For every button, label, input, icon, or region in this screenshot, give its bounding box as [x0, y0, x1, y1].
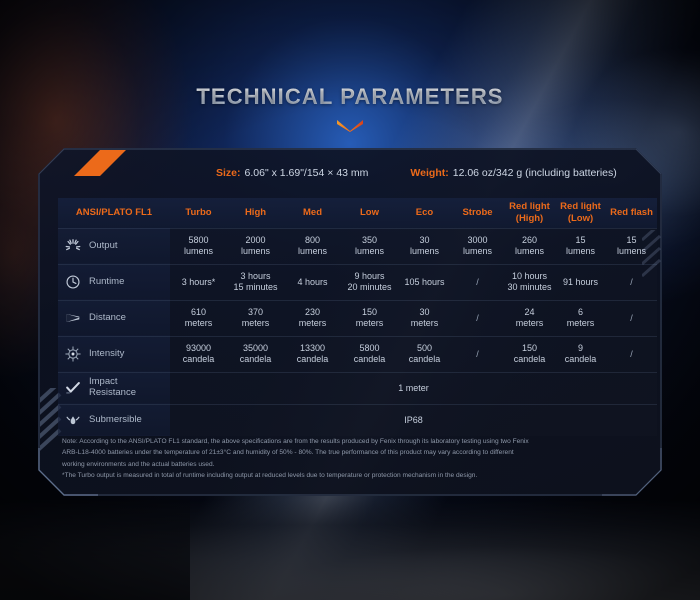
table-cell: 500candela — [398, 336, 451, 372]
cell-unit: candela — [341, 354, 398, 365]
row-header-output: Output — [58, 228, 170, 264]
meta-weight-label: Weight: — [410, 167, 448, 179]
clock-icon — [64, 273, 82, 291]
row-header-distance: Distance — [58, 300, 170, 336]
column-header-eco: Eco — [398, 198, 451, 228]
cell-value: 6 — [555, 307, 606, 318]
row-label-submersible: Submersible — [89, 415, 142, 426]
cell-value: 4 hours — [284, 277, 341, 288]
cell-unit: meters — [504, 318, 555, 329]
cell-unit: meters — [341, 318, 398, 329]
table-cell: / — [606, 336, 657, 372]
meta-weight: Weight: 12.06 oz/342 g (including batter… — [410, 167, 616, 179]
cell-unit: lumens — [284, 246, 341, 257]
table-cell: 35000candela — [227, 336, 284, 372]
column-header-red-light-high: Red light (High) — [504, 198, 555, 228]
row-label-runtime: Runtime — [89, 277, 124, 288]
column-header-red-flash: Red flash — [606, 198, 657, 228]
cell-value: 15 — [555, 235, 606, 246]
table-cell: 260lumens — [504, 228, 555, 264]
cell-unit: 30 minutes — [504, 282, 555, 293]
table-cell: 370meters — [227, 300, 284, 336]
column-header-med: Med — [284, 198, 341, 228]
cell-value: 93000 — [170, 343, 227, 354]
table-cell: 3 hours15 minutes — [227, 264, 284, 300]
cell-value: 15 — [606, 235, 657, 246]
table-cell-merged-impact: 1 meter — [170, 372, 657, 404]
page-title: TECHNICAL PARAMETERS — [0, 84, 700, 110]
table-row: Intensity 93000candela 35000candela 1330… — [58, 336, 657, 372]
table-cell: 2000lumens — [227, 228, 284, 264]
cell-unit: lumens — [170, 246, 227, 257]
cell-unit: lumens — [555, 246, 606, 257]
cell-unit: lumens — [227, 246, 284, 257]
meta-weight-value: 12.06 oz/342 g (including batteries) — [453, 167, 617, 179]
sunburst-icon — [64, 237, 82, 255]
table-cell: 9candela — [555, 336, 606, 372]
table-cell: / — [606, 300, 657, 336]
meta-size: Size: 6.06" x 1.69"/154 × 43 mm — [216, 167, 368, 179]
table-cell: 6meters — [555, 300, 606, 336]
table-row: Runtime 3 hours* 3 hours15 minutes 4 hou… — [58, 264, 657, 300]
column-header-strobe: Strobe — [451, 198, 504, 228]
footnote-line-1: Note: According to the ANSI/PLATO FL1 st… — [62, 436, 642, 447]
row-label-intensity: Intensity — [89, 349, 124, 360]
row-header-runtime: Runtime — [58, 264, 170, 300]
cell-value: 230 — [284, 307, 341, 318]
cell-unit: meters — [170, 318, 227, 329]
table-cell: 5800lumens — [170, 228, 227, 264]
table-cell: 610meters — [170, 300, 227, 336]
table-row: ImpactResistance 1 meter — [58, 372, 657, 404]
table-cell: 93000candela — [170, 336, 227, 372]
row-label-line2: Resistance — [89, 387, 136, 398]
cell-value: 610 — [170, 307, 227, 318]
table-cell: / — [451, 300, 504, 336]
cell-unit: candela — [398, 354, 451, 365]
chevron-down-icon — [336, 119, 364, 132]
cell-value: / — [451, 277, 504, 288]
table-cell: 800lumens — [284, 228, 341, 264]
table-cell: 150candela — [504, 336, 555, 372]
column-header-low: Low — [341, 198, 398, 228]
table-cell: 5800candela — [341, 336, 398, 372]
table-cell: 30lumens — [398, 228, 451, 264]
cell-unit: candela — [170, 354, 227, 365]
cell-value: / — [606, 313, 657, 324]
cell-value: 3 hours — [227, 271, 284, 282]
cell-value: 3 hours* — [170, 277, 227, 288]
beam-distance-icon — [64, 309, 82, 327]
table-row: Submersible IP68 — [58, 404, 657, 436]
footnote-line-3: working environments and the actual batt… — [62, 459, 642, 470]
meta-size-value: 6.06" x 1.69"/154 × 43 mm — [245, 167, 369, 179]
row-header-intensity: Intensity — [58, 336, 170, 372]
target-intensity-icon — [64, 345, 82, 363]
table-cell: / — [451, 264, 504, 300]
cell-value: 30 — [398, 235, 451, 246]
table-header-row: ANSI/PLATO FL1 Turbo High Med Low Eco St… — [58, 198, 657, 228]
table-cell: 150meters — [341, 300, 398, 336]
cell-unit: meters — [555, 318, 606, 329]
cell-unit: meters — [284, 318, 341, 329]
table-cell: 15lumens — [555, 228, 606, 264]
product-meta-bar: Size: 6.06" x 1.69"/154 × 43 mm Weight: … — [38, 148, 662, 198]
cell-value: 150 — [504, 343, 555, 354]
cell-unit: 20 minutes — [341, 282, 398, 293]
cell-unit: meters — [398, 318, 451, 329]
title-block: TECHNICAL PARAMETERS — [0, 84, 700, 132]
table-cell: 91 hours — [555, 264, 606, 300]
table-cell: 230meters — [284, 300, 341, 336]
table-cell: 24meters — [504, 300, 555, 336]
cell-unit: lumens — [606, 246, 657, 257]
cell-unit: candela — [284, 354, 341, 365]
cell-unit: candela — [227, 354, 284, 365]
row-label-impact-resistance: ImpactResistance — [89, 377, 136, 399]
cell-unit: lumens — [341, 246, 398, 257]
checkmark-impact-icon — [64, 379, 82, 397]
cell-value: 13300 — [284, 343, 341, 354]
cell-value: 35000 — [227, 343, 284, 354]
cell-value: / — [451, 313, 504, 324]
cell-value: 24 — [504, 307, 555, 318]
row-label-line1: Impact — [89, 376, 118, 387]
cell-value: 350 — [341, 235, 398, 246]
cell-value: 800 — [284, 235, 341, 246]
column-header-red-light-low: Red light (Low) — [555, 198, 606, 228]
cell-unit: lumens — [504, 246, 555, 257]
cell-value: 5800 — [170, 235, 227, 246]
cell-value: 2000 — [227, 235, 284, 246]
table-cell: 3 hours* — [170, 264, 227, 300]
table-body: Output 5800lumens 2000lumens 800lumens 3… — [58, 228, 657, 436]
footnote-block: Note: According to the ANSI/PLATO FL1 st… — [62, 436, 642, 481]
cell-unit: candela — [504, 354, 555, 365]
column-header-turbo: Turbo — [170, 198, 227, 228]
column-header-high: High — [227, 198, 284, 228]
cell-unit: lumens — [451, 246, 504, 257]
cell-unit: meters — [227, 318, 284, 329]
table-cell: 30meters — [398, 300, 451, 336]
row-label-output: Output — [89, 241, 118, 252]
table-cell: / — [606, 264, 657, 300]
table-cell: / — [451, 336, 504, 372]
row-header-submersible: Submersible — [58, 404, 170, 436]
cell-value: 105 hours — [398, 277, 451, 288]
table-cell: 10 hours30 minutes — [504, 264, 555, 300]
row-label-distance: Distance — [89, 313, 126, 324]
cell-unit: candela — [555, 354, 606, 365]
water-splash-icon — [64, 411, 82, 429]
technical-parameters-table: ANSI/PLATO FL1 Turbo High Med Low Eco St… — [58, 198, 657, 436]
meta-size-label: Size: — [216, 167, 241, 179]
table-row: Distance 610meters 370meters 230meters 1… — [58, 300, 657, 336]
cell-value: 9 — [555, 343, 606, 354]
table-cell: 4 hours — [284, 264, 341, 300]
cell-value: / — [606, 277, 657, 288]
cell-unit: lumens — [398, 246, 451, 257]
table-cell: 9 hours20 minutes — [341, 264, 398, 300]
row-header-impact-resistance: ImpactResistance — [58, 372, 170, 404]
cell-value: 150 — [341, 307, 398, 318]
cell-value: 260 — [504, 235, 555, 246]
table-cell: 13300candela — [284, 336, 341, 372]
cell-value: 370 — [227, 307, 284, 318]
table-cell-merged-submersible: IP68 — [170, 404, 657, 436]
table-cell: 3000lumens — [451, 228, 504, 264]
cell-value: 5800 — [341, 343, 398, 354]
footnote-line-2: ARB-L18-4000 batteries under the tempera… — [62, 447, 642, 458]
cell-value: 91 hours — [555, 277, 606, 288]
column-header-standard: ANSI/PLATO FL1 — [58, 198, 170, 228]
table-cell: 350lumens — [341, 228, 398, 264]
cell-value: 500 — [398, 343, 451, 354]
cell-unit: 15 minutes — [227, 282, 284, 293]
cell-value: 3000 — [451, 235, 504, 246]
screenshot-root: TECHNICAL PARAMETERS — [0, 0, 700, 600]
cell-value: 30 — [398, 307, 451, 318]
cell-value: / — [451, 349, 504, 360]
table-cell: 15lumens — [606, 228, 657, 264]
cell-value: 10 hours — [504, 271, 555, 282]
table-row: Output 5800lumens 2000lumens 800lumens 3… — [58, 228, 657, 264]
cell-value: / — [606, 349, 657, 360]
footnote-line-4: *The Turbo output is measured in total o… — [62, 470, 642, 481]
table-cell: 105 hours — [398, 264, 451, 300]
cell-value: 9 hours — [341, 271, 398, 282]
